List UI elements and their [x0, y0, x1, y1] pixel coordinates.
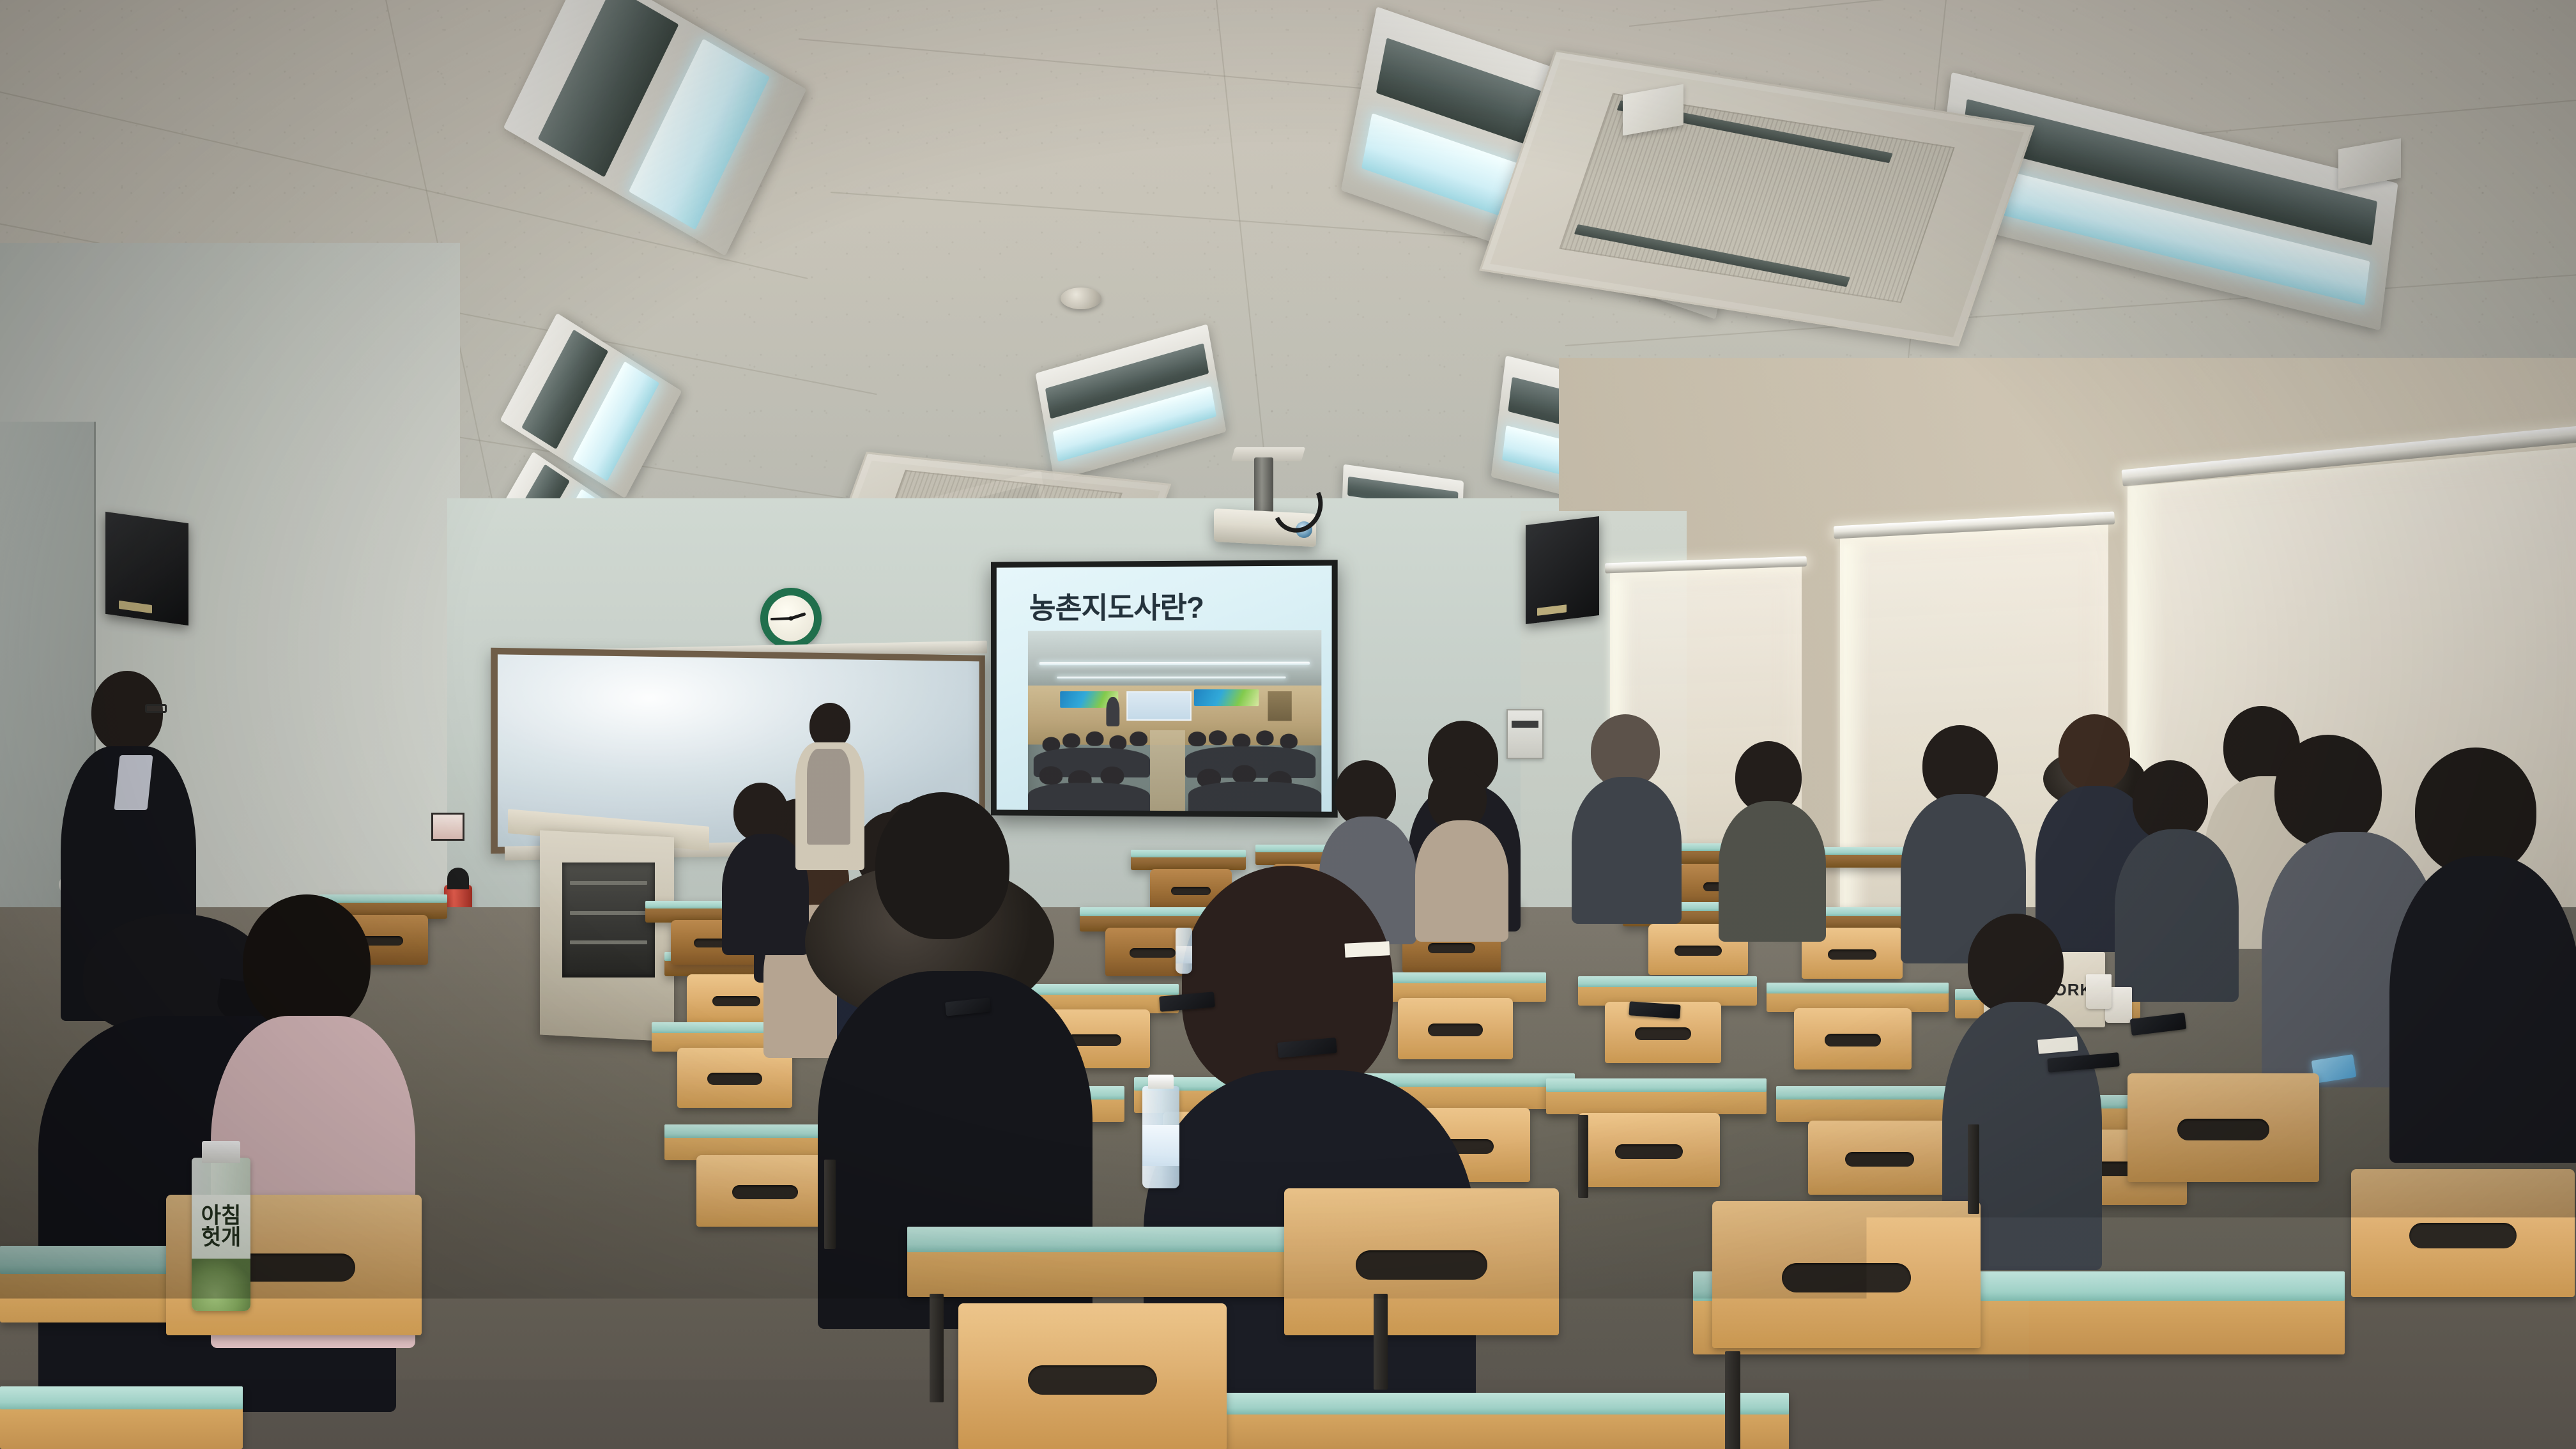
desk-surface	[1370, 972, 1546, 983]
chair-handle-slot	[732, 1185, 798, 1199]
slide-photo-attendee	[1086, 732, 1103, 746]
classroom-chair[interactable]	[1578, 1113, 1720, 1187]
slide-photo-door	[1268, 691, 1292, 721]
student-desk	[1131, 850, 1246, 870]
control-panel[interactable]	[1506, 709, 1544, 759]
hovenia-drink-bottle: 아침 헛개	[192, 1158, 250, 1311]
bottle-label	[1142, 1125, 1179, 1166]
chair-handle-slot	[1845, 1152, 1914, 1167]
attendee-head	[1182, 866, 1393, 1096]
attendee-head	[875, 792, 1009, 939]
slide-photo-attendee-row	[1028, 783, 1150, 812]
desk-leg	[1374, 1294, 1388, 1390]
chair-handle-slot	[1635, 1027, 1690, 1039]
attendee-torso	[2389, 856, 2576, 1163]
student-desk	[1214, 1393, 1789, 1449]
desk-surface	[1080, 907, 1217, 916]
chair-handle-slot	[707, 1073, 762, 1085]
desk-surface	[319, 894, 447, 903]
chair-handle-slot	[1825, 1034, 1881, 1046]
chair-handle-slot	[1428, 943, 1475, 953]
desk-leg	[824, 1160, 836, 1249]
wall-speaker-left	[105, 512, 188, 625]
slide-photo-banner-right	[1194, 689, 1259, 706]
attendee-torso	[1415, 820, 1508, 942]
wall-speaker-right	[1526, 516, 1599, 624]
attendee-head	[2274, 735, 2382, 847]
desk-surface	[0, 1386, 243, 1409]
chair-handle-slot	[2409, 1223, 2517, 1248]
desk-leg	[930, 1294, 944, 1402]
projection-screen: 농촌지도사란?	[997, 565, 1332, 811]
classroom-chair[interactable]	[2127, 1073, 2319, 1182]
slide-photo-attendee	[1188, 732, 1206, 746]
slide-photo-aisle	[1150, 730, 1185, 811]
desk-surface	[1767, 983, 1949, 993]
slide-photo-attendee	[1256, 730, 1274, 745]
classroom-chair[interactable]	[1398, 998, 1513, 1059]
paper-cup	[2086, 974, 2112, 1009]
water-bottle	[1142, 1086, 1179, 1188]
desk-surface	[1131, 850, 1246, 857]
chair-handle-slot	[1171, 887, 1210, 895]
slide-photo-attendee	[1209, 730, 1227, 745]
attendee-torso	[2115, 829, 2239, 1002]
attendee-head	[2058, 714, 2130, 791]
attendee-head	[1968, 914, 2064, 1015]
classroom-chair[interactable]	[958, 1303, 1227, 1449]
slide-photo-attendee	[1280, 734, 1298, 749]
chair-handle-slot	[1130, 948, 1175, 958]
attendee-head	[243, 894, 371, 1032]
extinguisher-nozzle	[447, 868, 469, 889]
slide-photo-inner-screen	[1127, 691, 1192, 721]
desk-surface	[1214, 1393, 1789, 1414]
chair-handle-slot	[1428, 1023, 1483, 1036]
slide-title: 농촌지도사란?	[1029, 585, 1204, 627]
projection-screen-frame: 농촌지도사란?	[991, 560, 1338, 817]
bottle-leaf-graphic	[192, 1259, 250, 1311]
bottle-cap	[202, 1141, 240, 1163]
ac-grille	[1559, 93, 1955, 303]
chair-handle-slot	[1028, 1365, 1157, 1395]
bottle-cap	[1148, 1075, 1174, 1089]
smoke-detector	[1061, 287, 1101, 309]
slide-photo-attendee	[1130, 732, 1147, 746]
desk-leg	[1578, 1115, 1588, 1198]
classroom-chair[interactable]	[696, 1155, 834, 1227]
chair-handle-slot	[1828, 949, 1876, 960]
classroom-chair[interactable]	[1794, 1008, 1912, 1069]
chair-handle-slot	[712, 996, 760, 1006]
classroom-photo-scene: 농촌지도사란?	[0, 0, 2576, 1449]
projector-mount-pole	[1254, 457, 1273, 512]
classroom-chair[interactable]	[1808, 1121, 1951, 1195]
slide-photo-attendee	[1232, 765, 1256, 784]
clock-center-dot	[788, 616, 793, 620]
attendee-head	[733, 783, 788, 841]
chair-handle-slot	[1675, 946, 1722, 956]
rack-slot	[570, 940, 648, 944]
chair-handle-slot	[1782, 1263, 1911, 1292]
slide-photo-attendee-row	[1188, 781, 1321, 811]
slide-photo-light	[1039, 662, 1310, 666]
safety-sign	[431, 813, 464, 841]
water-bottle	[1176, 928, 1192, 974]
presenter-vest	[807, 749, 850, 845]
observer-shirt-collar	[114, 755, 153, 810]
rack-slot	[570, 911, 648, 915]
chair-handle-slot	[2177, 1119, 2269, 1140]
desk-leg	[1968, 1124, 1979, 1214]
chair-handle-slot	[1615, 1144, 1683, 1159]
classroom-chair[interactable]	[2351, 1169, 2575, 1297]
observer-glasses-icon	[145, 704, 167, 713]
slide-photo	[1028, 630, 1321, 811]
clock-minute-hand	[770, 617, 791, 620]
slide-photo-presenter	[1107, 697, 1120, 726]
slide-photo-light	[1057, 677, 1285, 678]
rack-slot	[570, 881, 648, 885]
bottle-brand-line2: 헛개	[201, 1225, 241, 1250]
chair-handle-slot	[233, 1253, 355, 1282]
desk-surface	[1546, 1078, 1767, 1092]
slide-photo-attendee	[1062, 733, 1080, 748]
bottle-label	[1176, 946, 1192, 963]
chair-handle-slot	[1356, 1250, 1487, 1280]
attendee-torso	[1719, 801, 1826, 942]
slide-photo-attendee	[1101, 767, 1124, 785]
speaker-badge	[119, 601, 152, 613]
clock-face	[768, 595, 815, 642]
handout-sheet	[1344, 941, 1390, 958]
student-desk	[0, 1386, 243, 1449]
bottle-brand-line1: 아침	[201, 1204, 241, 1228]
classroom-chair[interactable]	[1712, 1201, 1981, 1348]
slide-photo-attendee	[1039, 766, 1062, 785]
desk-leg	[1725, 1351, 1740, 1449]
attendee-torso	[1572, 777, 1682, 924]
desk-surface	[1578, 976, 1757, 987]
wall-clock	[760, 588, 822, 649]
av-equipment-rack	[562, 862, 655, 977]
student-desk	[1546, 1078, 1767, 1114]
classroom-chair[interactable]	[1284, 1188, 1559, 1335]
speaker-badge	[1537, 604, 1567, 616]
